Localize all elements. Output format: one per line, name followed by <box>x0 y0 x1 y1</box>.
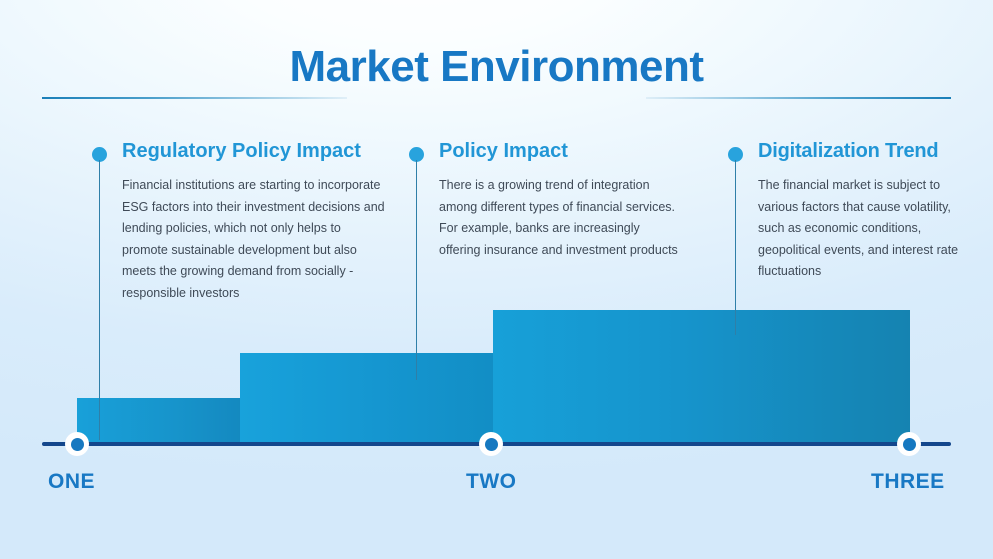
callout-text: The financial market is subject to vario… <box>758 175 980 283</box>
callout-text: Financial institutions are starting to i… <box>122 175 390 304</box>
slide-canvas: Market Environment ONE TWO THREE Regulat… <box>0 0 993 559</box>
callout-one: Regulatory Policy Impact Financial insti… <box>92 140 390 304</box>
callout-text: There is a growing trend of integration … <box>439 175 679 261</box>
callout-two: Policy Impact There is a growing trend o… <box>409 140 679 261</box>
bar-step-one <box>77 398 241 443</box>
leader-line <box>416 160 417 380</box>
title-divider-left <box>42 97 347 99</box>
axis-label-one: ONE <box>48 470 95 494</box>
leader-line <box>735 160 736 335</box>
callout-title: Digitalization Trend <box>758 140 980 162</box>
axis-marker-two[interactable] <box>479 432 503 456</box>
bar-step-three <box>493 310 910 443</box>
axis-marker-one[interactable] <box>65 432 89 456</box>
bar-step-two <box>240 353 494 443</box>
axis-label-two: TWO <box>466 470 516 494</box>
callout-body: Policy Impact There is a growing trend o… <box>409 140 679 261</box>
callout-three: Digitalization Trend The financial marke… <box>728 140 980 283</box>
callout-title: Regulatory Policy Impact <box>122 140 390 162</box>
leader-line <box>99 160 100 440</box>
callout-body: Regulatory Policy Impact Financial insti… <box>92 140 390 304</box>
title-divider-right <box>646 97 951 99</box>
title-area: Market Environment <box>0 32 993 102</box>
axis-label-three: THREE <box>871 470 945 494</box>
callout-body: Digitalization Trend The financial marke… <box>728 140 980 283</box>
page-title: Market Environment <box>272 45 722 89</box>
callout-title: Policy Impact <box>439 140 679 162</box>
axis-marker-three[interactable] <box>897 432 921 456</box>
